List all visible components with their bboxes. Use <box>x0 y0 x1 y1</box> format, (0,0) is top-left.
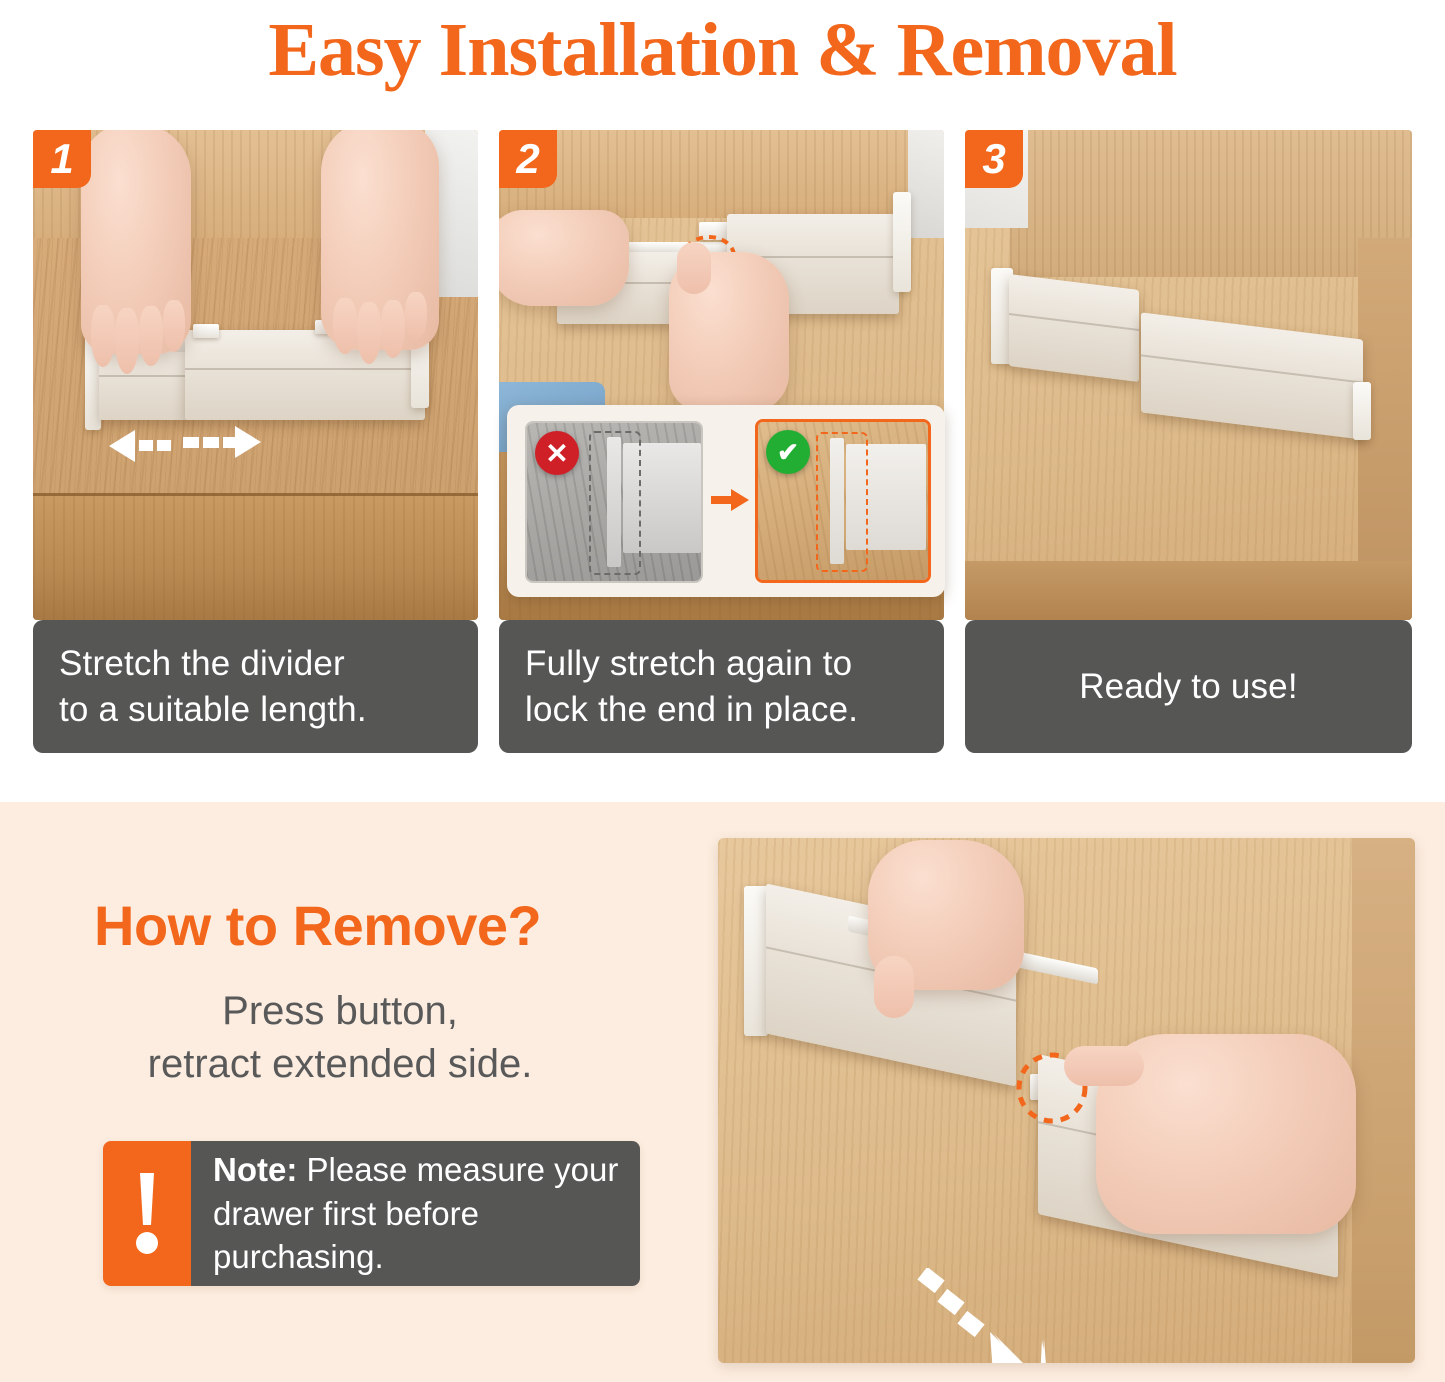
right-hand-finger-4 <box>405 292 427 340</box>
counter-edge <box>908 130 944 238</box>
step-number-badge-3: 3 <box>965 130 1023 188</box>
step-1-caption-line-1: Stretch the divider <box>59 641 452 687</box>
divider-right-cap <box>893 192 911 292</box>
exclamation-glyph <box>130 1169 164 1259</box>
step-number-badge-1: 1 <box>33 130 91 188</box>
exclamation-icon <box>103 1141 191 1286</box>
step-1-caption-line-2: to a suitable length. <box>59 687 452 733</box>
note-label: Note: <box>213 1151 297 1188</box>
right-hand-finger-2 <box>357 302 381 364</box>
upper-hand-thumb <box>874 956 914 1018</box>
correct-example-image: ✔ <box>755 419 931 583</box>
left-hand-finger-3 <box>139 306 163 366</box>
correct-mark-icon: ✔ <box>766 430 810 474</box>
right-hand-finger-3 <box>381 300 405 358</box>
drawer-back-wall <box>499 130 944 218</box>
drawer-right-rail <box>1352 838 1415 1363</box>
alignment-guide-dashed-box <box>589 431 641 575</box>
lock-comparison-card: ✕ ✔ <box>507 405 945 597</box>
remove-section-heading: How to Remove? <box>94 893 541 958</box>
step-panel-3: 3 <box>965 130 1412 620</box>
divider-left-cap <box>744 886 768 1036</box>
lower-hand-index <box>1064 1046 1144 1086</box>
page-title: Easy Installation & Removal <box>268 12 1176 88</box>
divider-right-cap <box>1353 382 1371 440</box>
step-panel-2: ✕ ✔ 2 <box>499 130 944 620</box>
step-3-caption: Ready to use! <box>965 620 1412 753</box>
right-hand-finger-1 <box>333 298 357 354</box>
step-1-photo <box>33 130 478 620</box>
left-hand-finger-2 <box>115 308 139 374</box>
step-1-caption: Stretch the divider to a suitable length… <box>33 620 478 753</box>
alignment-guide-dashed-box <box>816 432 868 572</box>
step-2-caption-line-2: lock the end in place. <box>525 687 918 733</box>
divider-latch <box>193 324 219 338</box>
stretch-direction-arrow-icon <box>105 422 265 470</box>
incorrect-example-image: ✕ <box>525 421 703 583</box>
step-2-caption: Fully stretch again to lock the end in p… <box>499 620 944 753</box>
drawer-front-lip <box>965 561 1412 620</box>
left-hand-finger-4 <box>163 300 185 352</box>
incorrect-mark-icon: ✕ <box>535 431 579 475</box>
drawer-front-lip <box>33 493 478 620</box>
page-header: Easy Installation & Removal <box>0 0 1445 100</box>
right-hand-thumb <box>677 242 711 294</box>
note-text: Note: Please measure your drawer first b… <box>191 1141 640 1286</box>
left-hand <box>499 210 629 306</box>
remove-demo-photo <box>718 838 1415 1363</box>
retract-direction-arrow-icon <box>916 1268 1062 1363</box>
step-number-badge-2: 2 <box>499 130 557 188</box>
step-3-photo <box>965 130 1412 620</box>
note-callout: Note: Please measure your drawer first b… <box>103 1141 640 1286</box>
remove-subtitle-line-2: retract extended side. <box>148 1042 533 1086</box>
left-hand-finger-1 <box>91 305 115 367</box>
remove-section-subtitle: Press button, retract extended side. <box>60 985 620 1091</box>
step-2-caption-line-1: Fully stretch again to <box>525 641 918 687</box>
step-panel-1: 1 <box>33 130 478 620</box>
comparison-arrow-icon <box>711 487 751 513</box>
remove-subtitle-line-1: Press button, <box>222 989 458 1033</box>
step-3-caption-line-1: Ready to use! <box>1079 664 1298 710</box>
divider-left-section <box>1009 274 1139 382</box>
drawer-back-wall <box>1010 130 1412 277</box>
